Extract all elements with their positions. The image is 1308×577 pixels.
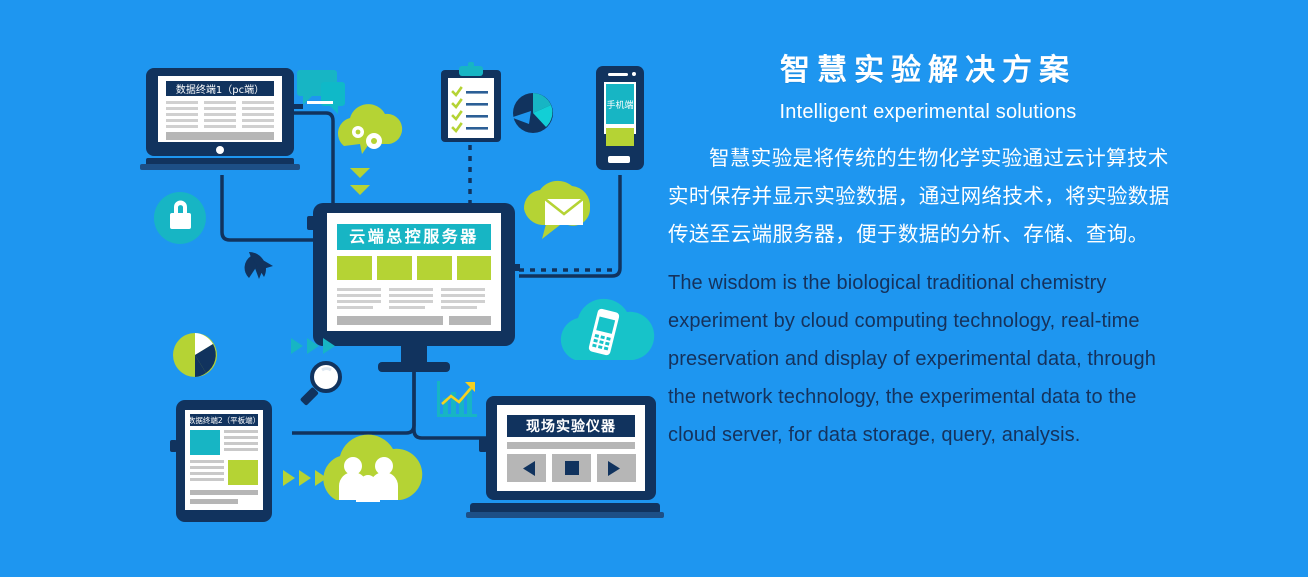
text-panel: 智慧实验解决方案 Intelligent experimental soluti… (668, 54, 1188, 454)
laptop-screen-label: 数据终端1（pc端） (176, 83, 264, 96)
bar-chart-icon (437, 381, 477, 417)
lock-bubble-icon (154, 192, 206, 244)
checklist-clipboard-icon (441, 62, 501, 142)
banner-root: 数据终端1（pc端） (0, 0, 1308, 577)
instrument-device[interactable]: 现场实验仪器 (466, 396, 664, 518)
server-screen-label: 云端总控服务器 (349, 227, 479, 246)
page-title: 智慧实验解决方案 (668, 54, 1188, 87)
laptop-pc-device[interactable]: 数据终端1（pc端） (140, 68, 303, 170)
pie-chart-icon (513, 93, 553, 133)
illustration: 数据终端1（pc端） (0, 0, 668, 577)
tablet-device[interactable]: 数据终端2（平板端） (170, 400, 272, 522)
envelope-bubble-icon (524, 181, 590, 239)
gear-cloud-icon (338, 104, 402, 154)
page-subtitle: Intelligent experimental solutions (668, 101, 1188, 124)
magnifier-icon (300, 363, 340, 406)
chevrons-down-icon (350, 168, 370, 195)
people-cloud-icon (323, 435, 422, 502)
instrument-control-play[interactable] (597, 454, 636, 482)
cursor-icon (245, 252, 273, 279)
phone-screen-bottom (606, 128, 634, 146)
paragraph-english: The wisdom is the biological traditional… (668, 264, 1188, 454)
paragraph-chinese: 智慧实验是将传统的生物化学实验通过云计算技术实时保存并显示实验数据，通过网络技术… (668, 140, 1188, 254)
phone-cloud-icon (561, 299, 654, 360)
instrument-screen-label: 现场实验仪器 (526, 418, 616, 435)
instrument-control-stop[interactable] (552, 454, 591, 482)
arrows-right-icon (283, 470, 327, 486)
tablet-screen-label: 数据终端2（平板端） (188, 415, 260, 425)
pie-chart-small-icon (173, 333, 217, 377)
phone-device[interactable]: 手机端 (596, 66, 644, 170)
chat-bubbles-icon (297, 70, 345, 114)
instrument-control-prev[interactable] (507, 454, 546, 482)
server-monitor-device[interactable]: 云端总控服务器 (307, 203, 520, 372)
phone-screen-label: 手机端 (606, 99, 633, 111)
